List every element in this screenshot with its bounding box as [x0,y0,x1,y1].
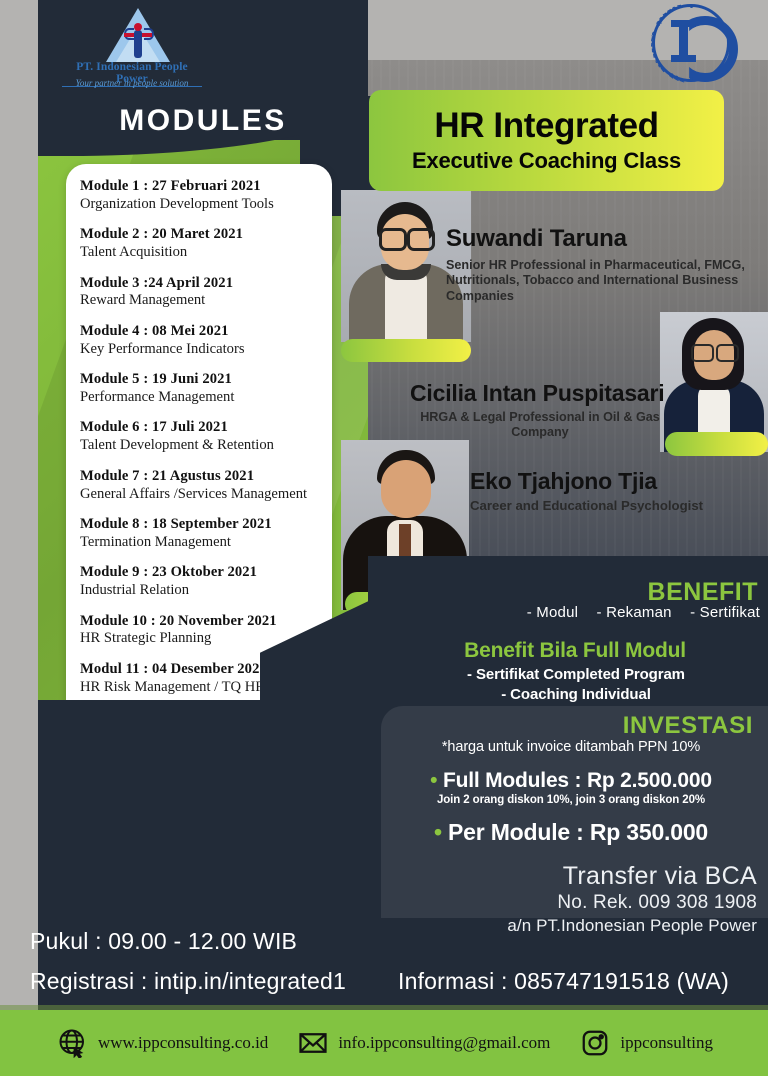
footer-website[interactable]: www.ippconsulting.co.id [58,1028,268,1058]
module-subject: Industrial Relation [80,582,318,600]
modules-list: Module 1 : 27 Februari 2021 Organization… [66,178,332,696]
list-item: Module 8 : 18 September 2021 Termination… [80,516,318,551]
speaker-role-3: Career and Educational Psychologist [470,498,730,514]
module-heading: Module 3 :24 April 2021 [80,275,318,293]
page-title: HR Integrated [434,108,658,143]
module-subject: Reward Management [80,292,318,310]
footer-website-label: www.ippconsulting.co.id [98,1033,268,1053]
module-subject: Talent Development & Retention [80,437,318,455]
ipp-triangle-logo: PT. Indonesian People Power Your partner… [62,6,202,86]
module-heading: Module 4 : 08 Mei 2021 [80,323,318,341]
benefit-title: BENEFIT [468,578,758,607]
module-heading: Module 6 : 17 Juli 2021 [80,419,318,437]
module-heading: Module 5 : 19 Juni 2021 [80,371,318,389]
list-item: Module 9 : 23 Oktober 2021 Industrial Re… [80,564,318,599]
module-heading: Module 8 : 18 September 2021 [80,516,318,534]
footer-instagram-label: ippconsulting [620,1033,713,1053]
bullet-icon: • [430,769,437,792]
logo-person-left-arm-icon [124,33,134,37]
list-item: Module 5 : 19 Juni 2021 Performance Mana… [80,371,318,406]
modules-title: MODULES [38,104,368,138]
title-banner: HR Integrated Executive Coaching Class [369,90,724,191]
footer-instagram[interactable]: ippconsulting [580,1028,713,1058]
benefit-full-item: - Sertifikat Completed Program [400,665,752,685]
investasi-per-module-row: • Per Module : Rp 350.000 [381,819,761,846]
transfer-account-name: a/n PT.Indonesian People Power [381,916,757,936]
speaker-role-1: Senior HR Professional in Pharmaceutical… [446,258,746,304]
schedule-time: Pukul : 09.00 - 12.00 WIB [30,928,297,955]
investasi-full-modules-label: Full Modules : Rp 2.500.000 [443,769,712,792]
contact-whatsapp[interactable]: Informasi : 085747191518 (WA) [398,968,729,995]
speaker-role-2: HRGA & Legal Professional in Oil & Gas C… [410,410,670,441]
transfer-title: Transfer via BCA [381,862,757,891]
photo-face [381,460,431,518]
bullet-icon: • [434,819,442,845]
poster-canvas: PT. Indonesian People Power Your partner… [0,0,768,1076]
ipp-learning-center-logo: IPP Learning Center [652,4,730,82]
list-item: Module 7 : 21 Agustus 2021 General Affai… [80,468,318,503]
benefit-items: - Modul - Rekaman - Sertifikat [468,604,760,621]
investasi-title: INVESTASI [381,712,753,740]
globe-icon [58,1028,88,1058]
module-heading: Module 9 : 23 Oktober 2021 [80,564,318,582]
investasi-full-modules-row: • Full Modules : Rp 2.500.000 [381,769,761,793]
company-tagline: Your partner in people solution [62,78,202,88]
transfer-account-number: No. Rek. 009 308 1908 [381,892,757,914]
benefit-item: - Rekaman [597,604,672,621]
glasses-left-icon [691,344,714,362]
footer-email-label: info.ippconsulting@gmail.com [338,1033,550,1053]
module-subject: Termination Management [80,534,318,552]
registration-link[interactable]: Registrasi : intip.in/integrated1 [30,968,346,995]
speaker-name-1: Suwandi Taruna [446,225,627,253]
investasi-note: *harga untuk invoice ditambah PPN 10% [381,739,761,755]
module-heading: Module 2 : 20 Maret 2021 [80,226,318,244]
speaker-name-2: Cicilia Intan Puspitasari [410,380,664,407]
instagram-icon [580,1028,610,1058]
envelope-icon [298,1028,328,1058]
list-item: Module 4 : 08 Mei 2021 Key Performance I… [80,323,318,358]
logo-person-right-arm-icon [142,33,152,37]
module-subject: Performance Management [80,389,318,407]
glasses-right-icon [407,228,435,251]
benefit-full-item: - Coaching Individual [400,685,752,705]
benefit-item: - Modul [527,604,578,621]
investasi-discount-note: Join 2 orang diskon 10%, join 3 orang di… [381,794,761,806]
module-heading: Module 10 : 20 November 2021 [80,613,318,631]
glasses-left-icon [379,228,407,251]
benefit-full-items: - Sertifikat Completed Program - Coachin… [400,665,752,704]
list-item: Module 2 : 20 Maret 2021 Talent Acquisit… [80,226,318,261]
module-subject: General Affairs /Services Management [80,486,318,504]
investasi-per-module-label: Per Module : Rp 350.000 [448,819,708,845]
module-heading: Module 7 : 21 Agustus 2021 [80,468,318,486]
accent-pill-right [665,432,768,456]
speaker-photo-cicilia [660,312,768,452]
footer-bar: www.ippconsulting.co.id info.ippconsulti… [0,1010,768,1076]
benefit-item: - Sertifikat [690,604,760,621]
benefit-full-title: Benefit Bila Full Modul [400,639,750,663]
logo-person-body-icon [134,30,142,58]
logo-ring-text: IPP Learning Center [650,2,732,84]
accent-pill-top [341,339,471,362]
list-item: Module 6 : 17 Juli 2021 Talent Developme… [80,419,318,454]
list-item: Module 1 : 27 Februari 2021 Organization… [80,178,318,213]
logo-person-head-icon [134,23,142,31]
glasses-right-icon [716,344,739,362]
module-subject: Organization Development Tools [80,196,318,214]
module-heading: Module 1 : 27 Februari 2021 [80,178,318,196]
speaker-name-3: Eko Tjahjono Tjia [470,468,657,495]
module-subject: Key Performance Indicators [80,341,318,359]
page-subtitle: Executive Coaching Class [412,148,681,174]
list-item: Module 3 :24 April 2021 Reward Managemen… [80,275,318,310]
module-subject: Talent Acquisition [80,244,318,262]
left-margin-strip [0,0,38,1010]
footer-email[interactable]: info.ippconsulting@gmail.com [298,1028,550,1058]
